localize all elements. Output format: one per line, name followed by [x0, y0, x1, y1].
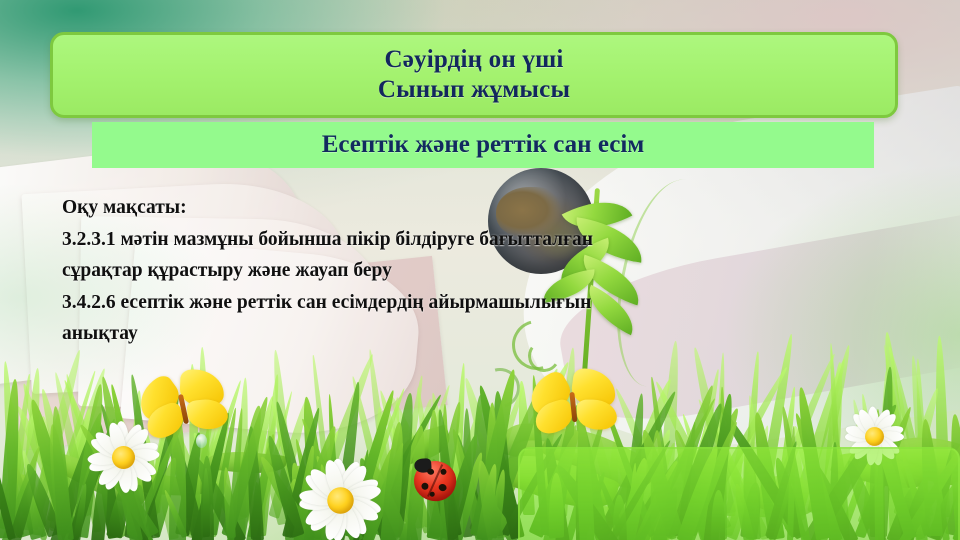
subtitle-text: Есептік және реттік сан есім — [322, 131, 645, 159]
objective-line: 3.4.2.6 есептік және реттік сан есімдерд… — [62, 287, 872, 319]
title-line-2: Сынып жұмысы — [378, 75, 570, 106]
butterfly-wing — [186, 397, 229, 431]
objective-line: анықтау — [62, 318, 872, 350]
daisy-flower-icon — [288, 448, 392, 540]
dew-drop-icon — [196, 434, 207, 448]
daisy-center — [112, 446, 135, 469]
learning-objectives-block: Оқу мақсаты: 3.2.3.1 мәтін мазмұны бойын… — [62, 192, 872, 350]
bottom-right-panel — [518, 447, 960, 540]
daisy-center — [865, 427, 884, 446]
objective-line: 3.2.3.1 мәтін мазмұны бойынша пікір білд… — [62, 224, 872, 256]
title-banner: Сәуірдің он үші Сынып жұмысы — [50, 32, 898, 118]
butterfly-icon — [524, 367, 623, 448]
presentation-slide: Сәуірдің он үші Сынып жұмысы Есептік жән… — [0, 0, 960, 540]
objectives-heading: Оқу мақсаты: — [62, 192, 872, 224]
subtitle-banner: Есептік және реттік сан есім — [92, 122, 874, 168]
title-line-1: Сәуірдің он үші — [384, 45, 563, 76]
objective-line: сұрақтар құрастыру және жауап беру — [62, 255, 872, 287]
daisy-center — [327, 487, 353, 513]
